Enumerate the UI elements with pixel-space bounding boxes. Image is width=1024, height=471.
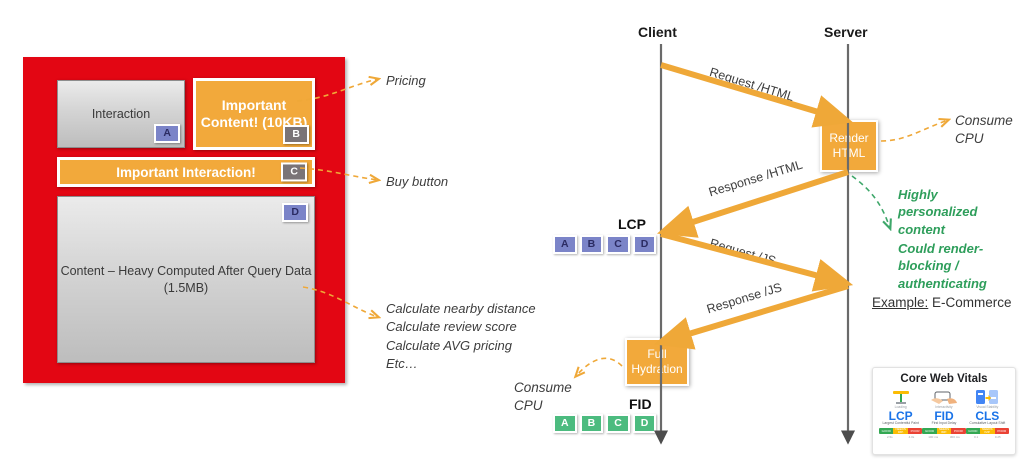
cwv-ticks-cls: 0.1 0.25	[966, 435, 1009, 439]
block-interaction-label: Interaction	[92, 107, 150, 121]
callout-buy-button: Buy button	[386, 173, 448, 191]
cwv-tick-fid-2: 300 ms	[950, 435, 960, 439]
block-content-heavy[interactable]: Content – Heavy Computed After Query Dat…	[57, 196, 315, 363]
cwv-bar-fid: GOOD NEEDS IMP. POOR	[922, 428, 965, 434]
cwv-band-ni-fid: NEEDS IMP.	[937, 428, 951, 434]
core-web-vitals-title: Core Web Vitals	[879, 373, 1009, 385]
lcp-cell-c: C	[606, 235, 630, 254]
badge-a: A	[154, 124, 180, 143]
cwv-column-fid: Interactivity FID First Input Delay GOOD…	[922, 388, 965, 439]
cwv-column-cls: Visual Stability CLS Cumulative Layout S…	[966, 388, 1009, 439]
block-important-interaction[interactable]: Important Interaction! C	[57, 157, 315, 187]
note-example-prefix: Example:	[872, 295, 928, 310]
badge-d: D	[282, 203, 308, 222]
block-interaction[interactable]: Interaction A	[57, 80, 185, 148]
badge-c: C	[281, 162, 307, 181]
block-important-interaction-label: Important Interaction!	[116, 165, 256, 180]
block-important-content[interactable]: Important Content! (10KB) B	[193, 78, 315, 150]
cwv-band-ni-cls: NEEDS IMP.	[980, 428, 994, 434]
fid-cell-d: D	[633, 414, 657, 433]
arrow-request-html	[661, 65, 845, 120]
cwv-tick-cls-2: 0.25	[995, 435, 1001, 439]
callout-pricing: Pricing	[386, 72, 426, 90]
cwv-full-cls: Cumulative Layout Shift	[966, 422, 1009, 426]
cwv-band-ni-lcp: NEEDS IMP.	[893, 428, 907, 434]
box-full-hydration-label: Full Hydration	[631, 347, 682, 377]
marker-fid-label: FID	[629, 396, 652, 412]
box-full-hydration[interactable]: Full Hydration	[625, 338, 689, 386]
message-response-js: Response /JS	[705, 280, 784, 316]
message-request-html: Request /HTML	[708, 65, 796, 104]
message-response-html: Response /HTML	[707, 158, 804, 200]
note-example: Example: E-Commerce	[872, 295, 1012, 310]
cwv-full-fid: First Input Delay	[922, 422, 965, 426]
lcp-cell-d: D	[633, 235, 657, 254]
badge-b: B	[283, 125, 309, 144]
cwv-ticks-lcp: 2.5s 4.0s	[879, 435, 922, 439]
cwv-band-poor-cls: POOR	[995, 428, 1009, 434]
fid-letter-strip: A B C D	[553, 414, 656, 433]
cwv-full-lcp: Largest Contentful Paint	[879, 422, 922, 426]
interactivity-icon	[922, 388, 965, 405]
note-consume-cpu-top: Consume CPU	[955, 112, 1013, 147]
cwv-band-good-fid: GOOD	[922, 428, 936, 434]
cwv-tick-cls-1: 0.1	[974, 435, 978, 439]
note-consume-cpu-bottom: Consume CPU	[514, 379, 572, 414]
connector-render-to-cpu	[881, 120, 948, 141]
note-render-blocking: Could render- blocking / authenticating	[898, 240, 987, 292]
lcp-letter-strip: A B C D	[553, 235, 656, 254]
slide-canvas: Interaction A Important Content! (10KB) …	[0, 0, 1024, 471]
cwv-band-poor-fid: POOR	[951, 428, 965, 434]
connector-server-to-notes	[852, 176, 890, 228]
connector-hydration-to-cpu	[576, 358, 622, 376]
cwv-tick-lcp-1: 2.5s	[887, 435, 893, 439]
fid-cell-b: B	[580, 414, 604, 433]
visual-stability-icon	[966, 388, 1009, 405]
cwv-tick-fid-1: 100 ms	[928, 435, 938, 439]
cwv-bar-cls: GOOD NEEDS IMP. POOR	[966, 428, 1009, 434]
lcp-cell-a: A	[553, 235, 577, 254]
cwv-column-lcp: Loading LCP Largest Contentful Paint GOO…	[879, 388, 922, 439]
actor-client-label: Client	[638, 24, 677, 40]
message-request-js: Request /JS	[708, 236, 777, 268]
core-web-vitals-card: Core Web Vitals Loading LCP Largest Cont…	[872, 367, 1016, 455]
note-highly-personalized: Highly personalized content	[898, 186, 977, 238]
cwv-band-good-lcp: GOOD	[879, 428, 893, 434]
fid-cell-a: A	[553, 414, 577, 433]
callout-calculations: Calculate nearby distance Calculate revi…	[386, 300, 536, 374]
cwv-band-good-cls: GOOD	[966, 428, 980, 434]
note-example-value: E-Commerce	[928, 295, 1011, 310]
marker-lcp-label: LCP	[618, 216, 646, 232]
page-mock-frame: Interaction A Important Content! (10KB) …	[23, 57, 345, 383]
cwv-bar-lcp: GOOD NEEDS IMP. POOR	[879, 428, 922, 434]
cwv-ticks-fid: 100 ms 300 ms	[922, 435, 965, 439]
fid-cell-c: C	[606, 414, 630, 433]
loading-icon	[879, 388, 922, 405]
box-render-html-label: Render HTML	[829, 131, 868, 161]
cwv-band-poor-lcp: POOR	[908, 428, 922, 434]
block-content-heavy-label: Content – Heavy Computed After Query Dat…	[58, 263, 314, 297]
lcp-cell-b: B	[580, 235, 604, 254]
actor-server-label: Server	[824, 24, 868, 40]
box-render-html[interactable]: Render HTML	[820, 120, 878, 172]
cwv-tick-lcp-2: 4.0s	[909, 435, 915, 439]
